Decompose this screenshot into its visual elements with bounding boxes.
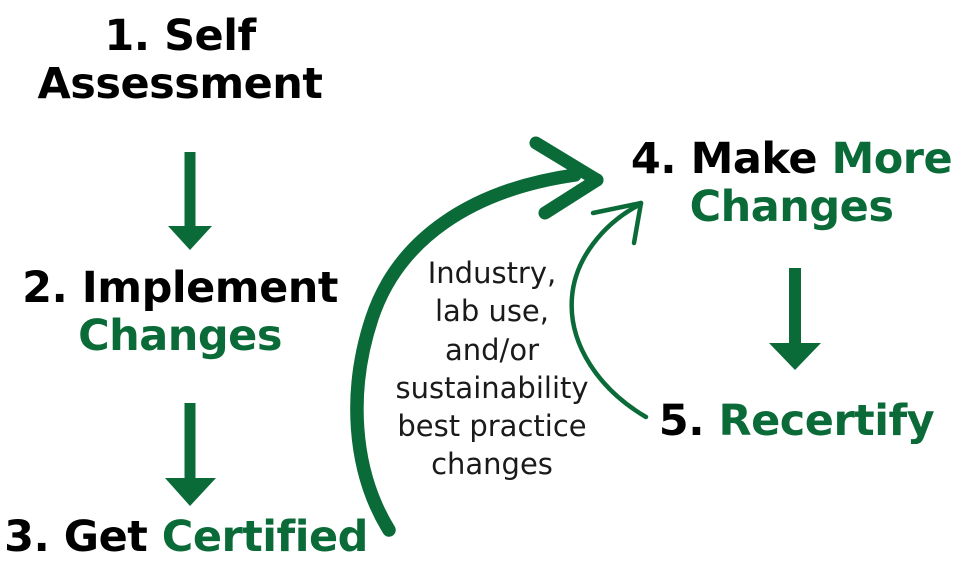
arrow-step2-to-step3: [165, 403, 216, 506]
arrow-step1-to-step2: [168, 152, 212, 250]
step-5-label-black: 5.: [659, 396, 719, 446]
step-5-label-accent: Recertify: [719, 396, 935, 446]
step-2-label-accent: Changes: [78, 311, 282, 361]
loop-annotation-text: Industry, lab use, and/or sustainability…: [393, 254, 591, 484]
step-3-get-certified: 3. Get Certified: [0, 513, 372, 561]
step-2-label-black: 2. Implement: [22, 263, 338, 313]
step-3-label-accent: Certified: [162, 512, 368, 562]
step-5-recertify: 5. Recertify: [620, 397, 973, 445]
step-2-implement-changes: 2. Implement Changes: [0, 264, 360, 360]
diagram-canvas: 1. Self Assessment 2. Implement Changes …: [0, 0, 973, 588]
step-4-make-more-changes: 4. Make More Changes: [610, 135, 973, 231]
step-1-label: 1. Self Assessment: [38, 11, 323, 109]
step-4-label-black: 4. Make: [631, 134, 832, 184]
step-1-self-assessment: 1. Self Assessment: [0, 12, 360, 108]
step-3-label-black: 3. Get: [4, 512, 162, 562]
arrow-step4-to-step5: [769, 268, 821, 370]
